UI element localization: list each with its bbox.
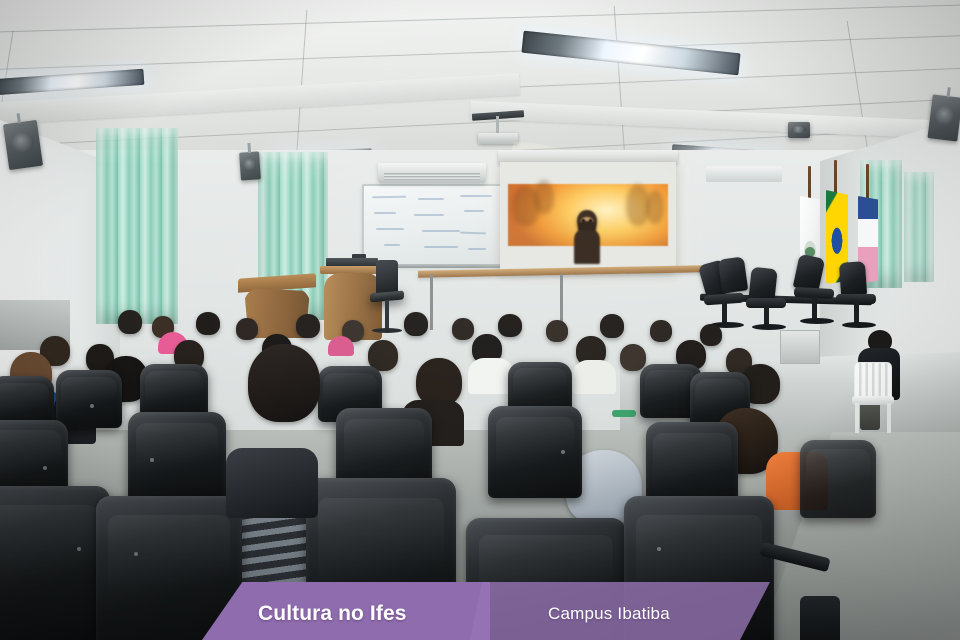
auditorium-seat <box>128 412 226 504</box>
projected-film-image <box>508 184 668 246</box>
audience-head <box>498 314 522 337</box>
audience-head <box>296 314 320 338</box>
audience-head <box>404 312 428 336</box>
audience-head <box>600 314 624 338</box>
audience-head <box>620 344 646 371</box>
audience-body <box>328 336 354 356</box>
audience-head <box>546 320 568 342</box>
air-conditioner-right <box>706 166 782 182</box>
air-conditioner <box>378 163 486 183</box>
backpack <box>226 448 318 518</box>
film-character-silhouette <box>572 210 602 264</box>
projector <box>470 128 526 144</box>
photo-canvas: Cultura no Ifes Campus Ibatiba <box>0 0 960 640</box>
auditorium-seat-front <box>306 478 456 640</box>
auditorium-seat <box>800 440 876 518</box>
auditorium-seat <box>488 406 582 498</box>
auditorium-seat-front <box>624 496 774 640</box>
wall-speaker-left <box>3 120 43 170</box>
audience <box>0 300 960 640</box>
auditorium-seat-front <box>466 518 626 640</box>
whiteboard <box>362 184 504 266</box>
uniform-trim <box>612 410 636 417</box>
audience-head <box>248 344 320 422</box>
ceiling-beam-right <box>470 101 960 142</box>
audience-head <box>700 324 722 346</box>
audience-head <box>452 318 474 340</box>
audience-head <box>196 312 220 335</box>
curtain-right-far <box>904 172 934 282</box>
wall-speaker-right-small <box>788 122 810 138</box>
auditorium-seat-front <box>0 486 110 640</box>
wall-speaker-right <box>927 94 960 141</box>
audience-head <box>236 318 258 340</box>
auditorium-seat-front <box>96 496 242 640</box>
audience-head <box>650 320 672 342</box>
curtain-left <box>96 128 178 324</box>
auditorium-seat <box>56 370 122 428</box>
wall-speaker-center <box>239 151 261 180</box>
audience-head <box>416 358 462 406</box>
seat-arm-rail <box>800 596 840 640</box>
audience-head <box>118 310 142 334</box>
projection-screen <box>500 162 676 272</box>
audience-body <box>572 360 616 394</box>
